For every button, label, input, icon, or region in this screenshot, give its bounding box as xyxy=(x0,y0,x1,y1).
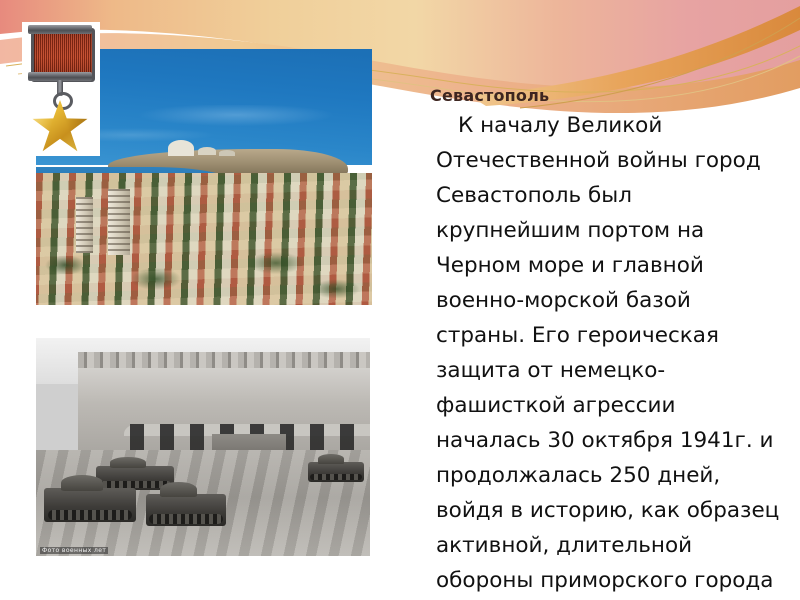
tank-front-left xyxy=(44,488,136,522)
tank-far-right xyxy=(308,462,364,482)
medal-ring xyxy=(53,92,73,110)
presentation-slide: Фото военных лет Севастополь К началу Ве… xyxy=(0,0,800,600)
slide-body-text: К началу Великой Отечественной войны гор… xyxy=(436,108,780,600)
wartime-ruins-photo: Фото военных лет xyxy=(36,338,370,556)
gold-star-icon xyxy=(32,100,88,154)
greenery-region xyxy=(36,245,372,305)
gold-star-medal-photo xyxy=(22,22,100,156)
tank-front-right xyxy=(146,494,226,526)
photo-credit: Фото военных лет xyxy=(40,547,108,554)
medal-clasp-top xyxy=(28,25,92,34)
text-column: Севастополь К началу Великой Отечественн… xyxy=(424,86,780,600)
slide-title: Севастополь xyxy=(430,86,780,106)
